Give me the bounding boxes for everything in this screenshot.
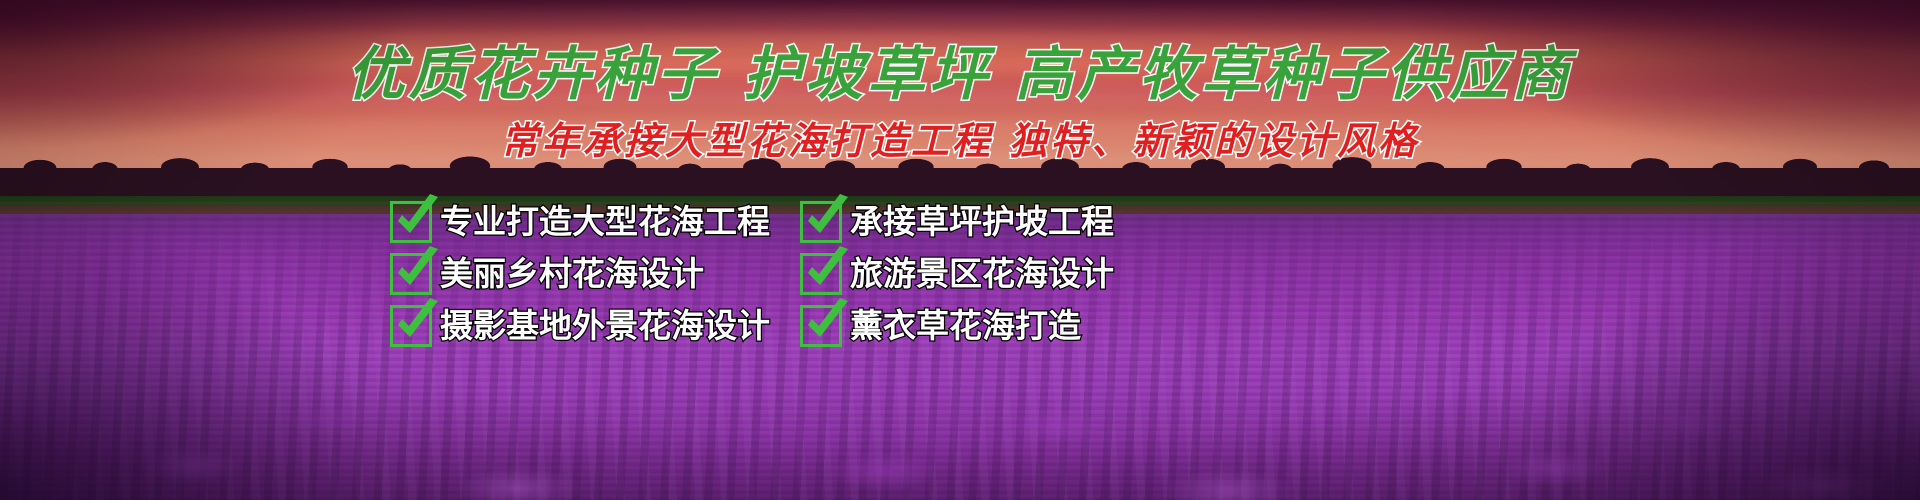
- check-icon: [390, 253, 432, 295]
- feature-item[interactable]: 薰衣草花海打造: [800, 305, 1150, 347]
- banner-headline: 优质花卉种子 护坡草坪 高产牧草种子供应商: [0, 40, 1920, 108]
- banner-subtitle: 常年承接大型花海打造工程 独特、新颖的设计风格: [0, 118, 1920, 164]
- feature-checklist: 专业打造大型花海工程 承接草坪护坡工程 美丽乡村花海设计 旅游景区花海设计 摄影: [390, 196, 1150, 352]
- hero-banner: 优质花卉种子 护坡草坪 高产牧草种子供应商 常年承接大型花海打造工程 独特、新颖…: [0, 0, 1920, 500]
- feature-item[interactable]: 美丽乡村花海设计: [390, 253, 800, 295]
- feature-label: 专业打造大型花海工程: [440, 201, 770, 243]
- feature-label: 美丽乡村花海设计: [440, 253, 704, 295]
- feature-label: 摄影基地外景花海设计: [440, 305, 770, 347]
- feature-label: 承接草坪护坡工程: [850, 201, 1114, 243]
- field-left-shadow: [0, 214, 380, 500]
- check-icon: [390, 201, 432, 243]
- check-icon: [800, 201, 842, 243]
- feature-item[interactable]: 专业打造大型花海工程: [390, 201, 800, 243]
- feature-label: 薰衣草花海打造: [850, 305, 1081, 347]
- check-icon: [800, 305, 842, 347]
- feature-label: 旅游景区花海设计: [850, 253, 1114, 295]
- feature-item[interactable]: 承接草坪护坡工程: [800, 201, 1150, 243]
- feature-item[interactable]: 旅游景区花海设计: [800, 253, 1150, 295]
- check-icon: [390, 305, 432, 347]
- field-right-shadow: [1520, 214, 1920, 500]
- feature-item[interactable]: 摄影基地外景花海设计: [390, 305, 800, 347]
- check-icon: [800, 253, 842, 295]
